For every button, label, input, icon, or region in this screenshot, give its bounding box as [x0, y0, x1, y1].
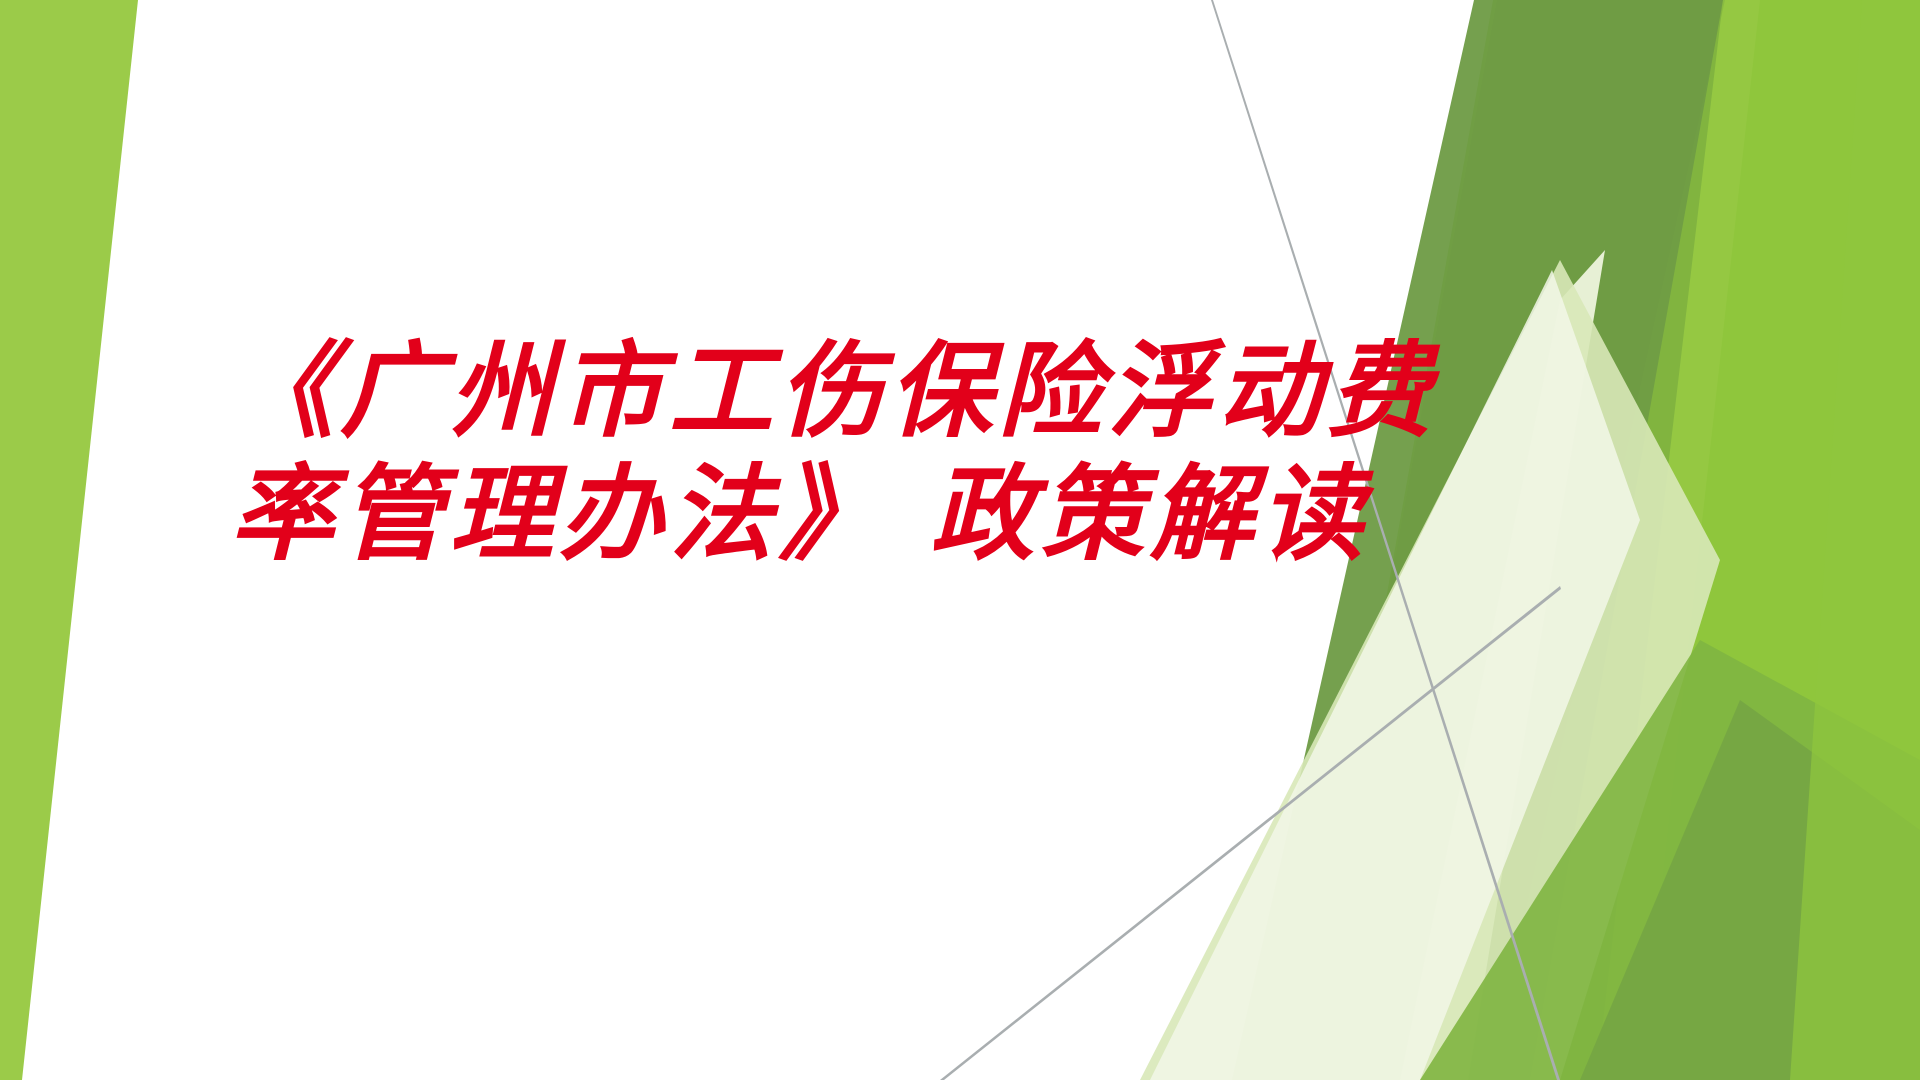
diagonal-hairline-lower [940, 586, 1561, 1080]
slide-canvas: 《广州市工伤保险浮动费 率管理办法》 政策解读 [0, 0, 1920, 1080]
bottom-right-mid-green [1420, 640, 1920, 1080]
right-green-v-highlight [1530, 0, 1920, 1080]
right-bright-lime-panel [1436, 0, 1920, 1080]
title-line-1: 《广州市工伤保险浮动费 [230, 330, 1240, 453]
right-lime-panel [1300, 0, 1760, 1080]
bottom-right-lime-strip [1790, 0, 1920, 1080]
slide-title: 《广州市工伤保险浮动费 率管理办法》 政策解读 [230, 330, 1240, 575]
bottom-right-deep-green [1580, 700, 1920, 1080]
title-line-2: 率管理办法》 政策解读 [230, 453, 1240, 576]
left-lime-wedge [0, 0, 138, 1080]
